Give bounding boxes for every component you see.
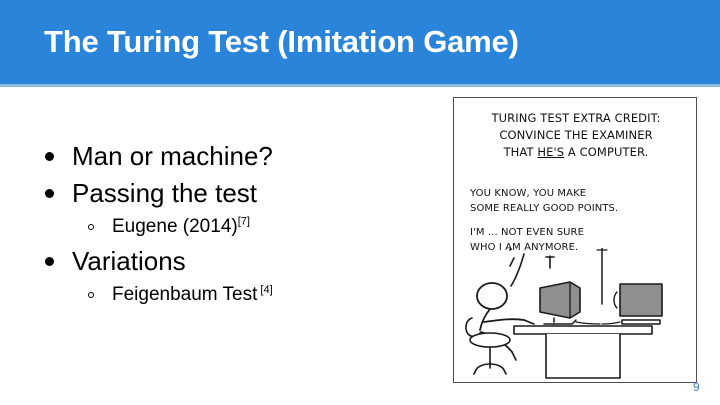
page-number: 9 bbox=[693, 380, 715, 394]
list-item: Variations bbox=[40, 243, 440, 279]
comic-caption-line-1: TURING TEST EXTRA CREDIT: bbox=[454, 110, 697, 127]
comic-caption-line-3-after: A COMPUTER. bbox=[564, 145, 648, 159]
bullet-dot-icon bbox=[45, 189, 54, 198]
bullet-dot-icon bbox=[45, 152, 54, 161]
comic-caption-line-3: THAT HE'S A COMPUTER. bbox=[454, 144, 697, 161]
list-item-label: Passing the test bbox=[72, 178, 257, 208]
list-item: Feigenbaum Test[4] bbox=[40, 280, 440, 310]
page-title: The Turing Test (Imitation Game) bbox=[44, 23, 684, 61]
citation-marker: [7] bbox=[238, 216, 250, 228]
bullet-dot-icon bbox=[45, 257, 54, 266]
comic-speech-1-line-2: SOME REALLY GOOD POINTS. bbox=[470, 201, 682, 216]
comic-illustration bbox=[454, 248, 697, 383]
comic-dialogue: YOU KNOW, YOU MAKE SOME REALLY GOOD POIN… bbox=[470, 186, 682, 255]
bullet-circle-icon bbox=[88, 292, 94, 298]
header-divider bbox=[0, 84, 720, 87]
comic-caption-line-3-before: THAT bbox=[504, 145, 538, 159]
list-item: Man or machine? bbox=[40, 138, 440, 174]
comic-panel: TURING TEST EXTRA CREDIT: CONVINCE THE E… bbox=[453, 97, 697, 383]
bullet-circle-icon bbox=[88, 224, 94, 230]
list-item: Passing the test bbox=[40, 175, 440, 211]
list-item-label: Variations bbox=[72, 246, 186, 276]
citation-marker: [4] bbox=[260, 284, 272, 296]
bullet-list: Man or machine? Passing the test Eugene … bbox=[40, 138, 440, 311]
comic-dialogue-spacer bbox=[470, 216, 682, 225]
comic-speech-2-line-1: I'M ... NOT EVEN SURE bbox=[470, 225, 682, 240]
comic-caption-emphasis: HE'S bbox=[537, 145, 564, 159]
list-item: Eugene (2014)[7] bbox=[40, 212, 440, 242]
slide: The Turing Test (Imitation Game) Man or … bbox=[0, 0, 720, 405]
list-item-label: Man or machine? bbox=[72, 141, 273, 171]
comic-speech-1-line-1: YOU KNOW, YOU MAKE bbox=[470, 186, 682, 201]
list-item-label: Feigenbaum Test bbox=[112, 284, 257, 305]
list-item-label: Eugene (2014) bbox=[112, 216, 238, 237]
comic-caption: TURING TEST EXTRA CREDIT: CONVINCE THE E… bbox=[454, 110, 697, 161]
comic-caption-line-2: CONVINCE THE EXAMINER bbox=[454, 127, 697, 144]
